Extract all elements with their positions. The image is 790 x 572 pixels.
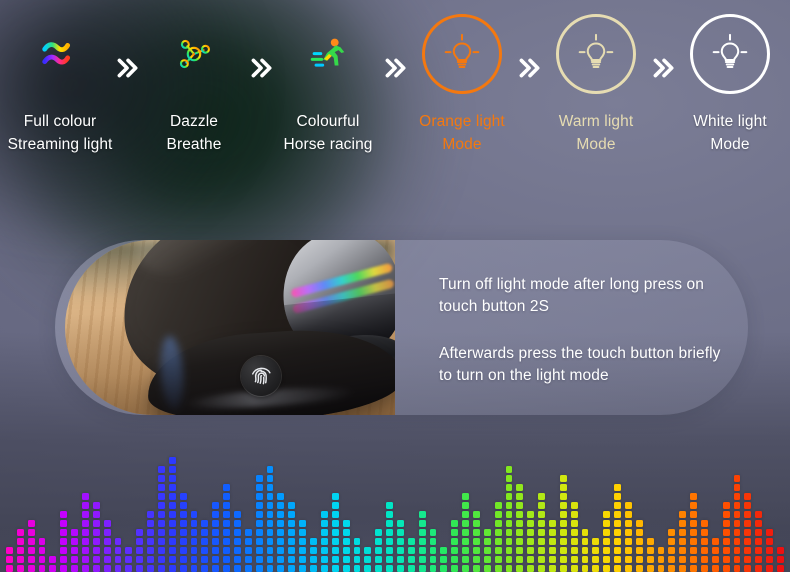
equalizer-segment bbox=[549, 547, 556, 554]
equalizer-segment bbox=[17, 565, 24, 572]
fingerprint-icon bbox=[247, 362, 276, 391]
mode-label: DazzleBreathe bbox=[167, 110, 222, 157]
equalizer-segment bbox=[354, 556, 361, 563]
equalizer-segment bbox=[723, 547, 730, 554]
instruction-paragraph-1: Turn off light mode after long press on … bbox=[439, 274, 722, 319]
equalizer-segment bbox=[288, 547, 295, 554]
equalizer-segment bbox=[201, 547, 208, 554]
equalizer-bar bbox=[136, 529, 143, 572]
instruction-text-block: Turn off light mode after long press on … bbox=[395, 240, 748, 415]
equalizer-segment bbox=[354, 538, 361, 545]
equalizer-segment bbox=[354, 547, 361, 554]
equalizer-bar bbox=[343, 520, 350, 572]
equalizer-bar bbox=[571, 502, 578, 572]
equalizer-segment bbox=[212, 502, 219, 509]
equalizer-segment bbox=[777, 547, 784, 554]
mode-label-line1: Dazzle bbox=[167, 110, 222, 133]
equalizer-segment bbox=[462, 556, 469, 563]
running-person-icon bbox=[305, 31, 351, 77]
equalizer-segment bbox=[560, 520, 567, 527]
equalizer-segment bbox=[82, 556, 89, 563]
equalizer-segment bbox=[408, 538, 415, 545]
equalizer-segment bbox=[397, 565, 404, 572]
equalizer-segment bbox=[690, 538, 697, 545]
equalizer-segment bbox=[560, 529, 567, 536]
equalizer-bar bbox=[267, 466, 274, 572]
equalizer-segment bbox=[755, 565, 762, 572]
equalizer-segment bbox=[386, 547, 393, 554]
equalizer-segment bbox=[93, 529, 100, 536]
equalizer-segment bbox=[397, 520, 404, 527]
equalizer-segment bbox=[582, 547, 589, 554]
equalizer-segment bbox=[484, 538, 491, 545]
equalizer-segment bbox=[354, 565, 361, 572]
equalizer-bar bbox=[712, 538, 719, 572]
equalizer-segment bbox=[299, 520, 306, 527]
equalizer-segment bbox=[506, 520, 513, 527]
equalizer-segment bbox=[277, 529, 284, 536]
equalizer-bar bbox=[766, 529, 773, 572]
equalizer-segment bbox=[462, 565, 469, 572]
equalizer-segment bbox=[516, 529, 523, 536]
equalizer-segment bbox=[560, 565, 567, 572]
equalizer-bar bbox=[49, 556, 56, 572]
equalizer-segment bbox=[451, 538, 458, 545]
equalizer-segment bbox=[625, 511, 632, 518]
mode-icon-ring bbox=[288, 14, 368, 94]
equalizer-segment bbox=[201, 520, 208, 527]
equalizer-segment bbox=[647, 556, 654, 563]
equalizer-segment bbox=[158, 475, 165, 482]
equalizer-segment bbox=[321, 538, 328, 545]
equalizer-segment bbox=[690, 529, 697, 536]
equalizer-segment bbox=[723, 502, 730, 509]
equalizer-segment bbox=[234, 538, 241, 545]
equalizer-segment bbox=[169, 520, 176, 527]
equalizer-segment bbox=[343, 547, 350, 554]
equalizer-segment bbox=[560, 502, 567, 509]
equalizer-segment bbox=[191, 520, 198, 527]
equalizer-segment bbox=[690, 511, 697, 518]
light-mode-strip: Full colourStreaming lightDazzleBreatheC… bbox=[0, 0, 790, 195]
equalizer-segment bbox=[603, 547, 610, 554]
equalizer-bar bbox=[668, 529, 675, 572]
equalizer-segment bbox=[82, 511, 89, 518]
equalizer-bar bbox=[419, 511, 426, 572]
equalizer-segment bbox=[169, 457, 176, 464]
equalizer-segment bbox=[506, 466, 513, 473]
double-chevron-right-icon bbox=[514, 28, 544, 108]
instruction-paragraph-2: Afterwards press the touch button briefl… bbox=[439, 343, 722, 388]
equalizer-bar bbox=[516, 484, 523, 572]
equalizer-segment bbox=[571, 511, 578, 518]
equalizer-segment bbox=[712, 538, 719, 545]
equalizer-segment bbox=[636, 529, 643, 536]
equalizer-segment bbox=[201, 529, 208, 536]
equalizer-segment bbox=[516, 538, 523, 545]
equalizer-segment bbox=[288, 520, 295, 527]
equalizer-segment bbox=[603, 556, 610, 563]
equalizer-segment bbox=[440, 547, 447, 554]
equalizer-bar bbox=[234, 511, 241, 572]
equalizer-segment bbox=[408, 565, 415, 572]
equalizer-bar bbox=[256, 475, 263, 572]
equalizer-segment bbox=[582, 565, 589, 572]
equalizer-segment bbox=[93, 520, 100, 527]
equalizer-segment bbox=[234, 511, 241, 518]
equalizer-segment bbox=[690, 520, 697, 527]
equalizer-segment bbox=[82, 565, 89, 572]
equalizer-segment bbox=[267, 502, 274, 509]
equalizer-segment bbox=[668, 529, 675, 536]
equalizer-bar bbox=[440, 547, 447, 572]
equalizer-segment bbox=[549, 529, 556, 536]
mode-label-line1: Colourful bbox=[283, 110, 372, 133]
equalizer-segment bbox=[49, 565, 56, 572]
equalizer-segment bbox=[614, 538, 621, 545]
equalizer-segment bbox=[169, 466, 176, 473]
equalizer-segment bbox=[419, 511, 426, 518]
equalizer-segment bbox=[321, 565, 328, 572]
equalizer-segment bbox=[93, 502, 100, 509]
equalizer-bar bbox=[6, 547, 13, 572]
equalizer-segment bbox=[256, 529, 263, 536]
equalizer-segment bbox=[451, 529, 458, 536]
equalizer-segment bbox=[625, 538, 632, 545]
double-chevron-right-icon bbox=[380, 28, 410, 108]
equalizer-segment bbox=[571, 538, 578, 545]
equalizer-segment bbox=[6, 547, 13, 554]
double-chevron-right-icon bbox=[112, 28, 142, 108]
equalizer-segment bbox=[614, 565, 621, 572]
equalizer-segment bbox=[538, 493, 545, 500]
equalizer-segment bbox=[538, 511, 545, 518]
equalizer-segment bbox=[223, 520, 230, 527]
equalizer-segment bbox=[430, 565, 437, 572]
equalizer-segment bbox=[234, 520, 241, 527]
equalizer-segment bbox=[256, 538, 263, 545]
equalizer-segment bbox=[614, 493, 621, 500]
equalizer-bar bbox=[506, 466, 513, 572]
equalizer-segment bbox=[288, 502, 295, 509]
mode-icon-wrapper bbox=[291, 17, 365, 91]
equalizer-segment bbox=[744, 520, 751, 527]
equalizer-segment bbox=[668, 556, 675, 563]
equalizer-segment bbox=[679, 556, 686, 563]
equalizer-segment bbox=[484, 556, 491, 563]
light-mode-item-1[interactable]: Full colourStreaming light bbox=[8, 14, 112, 157]
mode-icon-ring bbox=[422, 14, 502, 94]
equalizer-segment bbox=[527, 547, 534, 554]
equalizer-segment bbox=[658, 565, 665, 572]
equalizer-segment bbox=[364, 565, 371, 572]
equalizer-segment bbox=[506, 565, 513, 572]
equalizer-segment bbox=[625, 520, 632, 527]
equalizer-segment bbox=[169, 529, 176, 536]
equalizer-segment bbox=[310, 547, 317, 554]
equalizer-segment bbox=[755, 511, 762, 518]
equalizer-segment bbox=[115, 538, 122, 545]
equalizer-segment bbox=[180, 556, 187, 563]
equalizer-segment bbox=[744, 511, 751, 518]
equalizer-segment bbox=[386, 502, 393, 509]
equalizer-segment bbox=[147, 547, 154, 554]
equalizer-segment bbox=[506, 484, 513, 491]
equalizer-bar bbox=[430, 529, 437, 572]
equalizer-segment bbox=[82, 493, 89, 500]
equalizer-segment bbox=[277, 493, 284, 500]
equalizer-segment bbox=[592, 538, 599, 545]
equalizer-segment bbox=[516, 484, 523, 491]
equalizer-segment bbox=[180, 529, 187, 536]
equalizer-segment bbox=[332, 520, 339, 527]
equalizer-segment bbox=[158, 502, 165, 509]
equalizer-segment bbox=[17, 529, 24, 536]
mode-label: ColourfulHorse racing bbox=[283, 110, 372, 157]
equalizer-segment bbox=[136, 547, 143, 554]
light-mode-item-2[interactable]: DazzleBreathe bbox=[142, 14, 246, 157]
equalizer-segment bbox=[299, 565, 306, 572]
equalizer-segment bbox=[625, 547, 632, 554]
equalizer-segment bbox=[430, 529, 437, 536]
equalizer-segment bbox=[549, 565, 556, 572]
equalizer-segment bbox=[104, 547, 111, 554]
equalizer-segment bbox=[288, 511, 295, 518]
equalizer-segment bbox=[267, 493, 274, 500]
equalizer-bar bbox=[288, 502, 295, 572]
equalizer-segment bbox=[734, 493, 741, 500]
equalizer-segment bbox=[277, 556, 284, 563]
equalizer-segment bbox=[288, 565, 295, 572]
equalizer-segment bbox=[538, 565, 545, 572]
equalizer-segment bbox=[538, 547, 545, 554]
equalizer-segment bbox=[755, 538, 762, 545]
equalizer-segment bbox=[267, 520, 274, 527]
equalizer-segment bbox=[158, 529, 165, 536]
equalizer-segment bbox=[516, 520, 523, 527]
equalizer-segment bbox=[147, 538, 154, 545]
equalizer-segment bbox=[277, 502, 284, 509]
equalizer-segment bbox=[299, 556, 306, 563]
equalizer-segment bbox=[636, 520, 643, 527]
equalizer-segment bbox=[93, 556, 100, 563]
equalizer-segment bbox=[60, 520, 67, 527]
equalizer-segment bbox=[147, 529, 154, 536]
lightbulb-icon bbox=[439, 31, 485, 77]
equalizer-segment bbox=[701, 520, 708, 527]
equalizer-segment bbox=[288, 538, 295, 545]
equalizer-segment bbox=[679, 529, 686, 536]
equalizer-segment bbox=[321, 556, 328, 563]
equalizer-segment bbox=[28, 520, 35, 527]
equalizer-segment bbox=[549, 556, 556, 563]
equalizer-segment bbox=[506, 538, 513, 545]
equalizer-segment bbox=[267, 529, 274, 536]
equalizer-segment bbox=[310, 556, 317, 563]
equalizer-segment bbox=[549, 538, 556, 545]
equalizer-segment bbox=[245, 556, 252, 563]
equalizer-segment bbox=[690, 556, 697, 563]
equalizer-segment bbox=[419, 529, 426, 536]
equalizer-bar bbox=[223, 484, 230, 572]
equalizer-segment bbox=[506, 511, 513, 518]
equalizer-segment bbox=[321, 520, 328, 527]
equalizer-segment bbox=[180, 502, 187, 509]
equalizer-segment bbox=[223, 484, 230, 491]
equalizer-bar bbox=[310, 538, 317, 572]
equalizer-segment bbox=[212, 565, 219, 572]
equalizer-segment bbox=[419, 520, 426, 527]
equalizer-segment bbox=[668, 565, 675, 572]
equalizer-segment bbox=[71, 556, 78, 563]
equalizer-segment bbox=[527, 529, 534, 536]
equalizer-segment bbox=[766, 556, 773, 563]
equalizer-segment bbox=[115, 556, 122, 563]
equalizer-segment bbox=[267, 484, 274, 491]
equalizer-bar bbox=[495, 502, 502, 572]
equalizer-segment bbox=[744, 493, 751, 500]
equalizer-segment bbox=[60, 547, 67, 554]
equalizer-segment bbox=[256, 565, 263, 572]
equalizer-segment bbox=[332, 502, 339, 509]
equalizer-bar bbox=[125, 547, 132, 572]
equalizer-segment bbox=[386, 538, 393, 545]
equalizer-segment bbox=[169, 493, 176, 500]
equalizer-segment bbox=[343, 556, 350, 563]
mode-icon-wrapper bbox=[157, 17, 231, 91]
equalizer-segment bbox=[104, 538, 111, 545]
light-mode-item-5[interactable]: Warm lightMode bbox=[544, 14, 648, 157]
equalizer-segment bbox=[115, 565, 122, 572]
equalizer-segment bbox=[343, 529, 350, 536]
equalizer-bar bbox=[397, 520, 404, 572]
equalizer-segment bbox=[516, 493, 523, 500]
equalizer-segment bbox=[104, 529, 111, 536]
equalizer-segment bbox=[766, 529, 773, 536]
equalizer-segment bbox=[506, 556, 513, 563]
equalizer-segment bbox=[527, 565, 534, 572]
equalizer-segment bbox=[473, 565, 480, 572]
equalizer-segment bbox=[506, 502, 513, 509]
equalizer-segment bbox=[299, 538, 306, 545]
equalizer-segment bbox=[93, 547, 100, 554]
equalizer-segment bbox=[223, 493, 230, 500]
equalizer-segment bbox=[679, 520, 686, 527]
equalizer-segment bbox=[60, 529, 67, 536]
equalizer-segment bbox=[277, 520, 284, 527]
equalizer-segment bbox=[321, 511, 328, 518]
equalizer-segment bbox=[614, 556, 621, 563]
mode-label-line2: Mode bbox=[419, 133, 505, 156]
equalizer-bar bbox=[560, 475, 567, 572]
mode-label-line2: Mode bbox=[693, 133, 766, 156]
equalizer-bar bbox=[364, 547, 371, 572]
equalizer-segment bbox=[484, 529, 491, 536]
equalizer-bar bbox=[527, 511, 534, 572]
mode-label-line2: Horse racing bbox=[283, 133, 372, 156]
equalizer-segment bbox=[484, 565, 491, 572]
equalizer-segment bbox=[723, 538, 730, 545]
equalizer-segment bbox=[473, 520, 480, 527]
equalizer-segment bbox=[136, 565, 143, 572]
equalizer-segment bbox=[169, 511, 176, 518]
light-mode-item-3[interactable]: ColourfulHorse racing bbox=[276, 14, 380, 157]
equalizer-bar bbox=[734, 475, 741, 572]
equalizer-segment bbox=[473, 547, 480, 554]
equalizer-segment bbox=[668, 547, 675, 554]
equalizer-segment bbox=[17, 547, 24, 554]
equalizer-segment bbox=[592, 547, 599, 554]
equalizer-segment bbox=[191, 547, 198, 554]
equalizer-segment bbox=[744, 538, 751, 545]
equalizer-segment bbox=[495, 547, 502, 554]
equalizer-segment bbox=[538, 556, 545, 563]
equalizer-segment bbox=[60, 556, 67, 563]
equalizer-segment bbox=[419, 538, 426, 545]
light-mode-item-4[interactable]: Orange lightMode bbox=[410, 14, 514, 157]
equalizer-segment bbox=[571, 565, 578, 572]
equalizer-bar bbox=[484, 529, 491, 572]
equalizer-segment bbox=[723, 511, 730, 518]
equalizer-segment bbox=[560, 484, 567, 491]
equalizer-segment bbox=[506, 475, 513, 482]
equalizer-segment bbox=[169, 538, 176, 545]
equalizer-segment bbox=[690, 502, 697, 509]
equalizer-segment bbox=[17, 556, 24, 563]
mode-label-line2: Streaming light bbox=[8, 133, 113, 156]
equalizer-segment bbox=[136, 529, 143, 536]
equalizer-segment bbox=[430, 538, 437, 545]
equalizer-segment bbox=[332, 511, 339, 518]
equalizer-segment bbox=[647, 538, 654, 545]
equalizer-segment bbox=[267, 466, 274, 473]
equalizer-segment bbox=[440, 565, 447, 572]
mode-label-line1: Warm light bbox=[559, 110, 634, 133]
equalizer-segment bbox=[125, 565, 132, 572]
equalizer-segment bbox=[430, 556, 437, 563]
equalizer-bar bbox=[744, 493, 751, 572]
equalizer-segment bbox=[147, 511, 154, 518]
equalizer-segment bbox=[723, 565, 730, 572]
equalizer-segment bbox=[71, 538, 78, 545]
light-mode-item-6[interactable]: White lightMode bbox=[678, 14, 782, 157]
equalizer-segment bbox=[516, 547, 523, 554]
equalizer-segment bbox=[386, 556, 393, 563]
equalizer-segment bbox=[495, 538, 502, 545]
equalizer-segment bbox=[180, 493, 187, 500]
equalizer-segment bbox=[158, 466, 165, 473]
equalizer-segment bbox=[397, 556, 404, 563]
equalizer-segment bbox=[560, 475, 567, 482]
equalizer-segment bbox=[82, 529, 89, 536]
equalizer-bar bbox=[180, 493, 187, 572]
equalizer-segment bbox=[516, 511, 523, 518]
equalizer-segment bbox=[734, 484, 741, 491]
equalizer-segment bbox=[169, 475, 176, 482]
equalizer-segment bbox=[332, 565, 339, 572]
equalizer-segment bbox=[375, 538, 382, 545]
equalizer-segment bbox=[375, 565, 382, 572]
mode-icon-ring bbox=[690, 14, 770, 94]
equalizer-segment bbox=[332, 493, 339, 500]
mode-icon-ring bbox=[556, 14, 636, 94]
equalizer-bar bbox=[386, 502, 393, 572]
equalizer-segment bbox=[288, 529, 295, 536]
equalizer-segment bbox=[180, 511, 187, 518]
equalizer-segment bbox=[115, 547, 122, 554]
mode-icon-wrapper bbox=[693, 17, 767, 91]
equalizer-segment bbox=[734, 556, 741, 563]
